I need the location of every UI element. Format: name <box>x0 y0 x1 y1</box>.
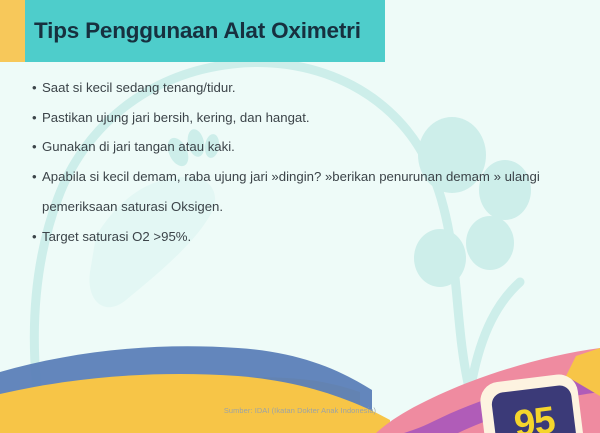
list-item: • Target saturasi O2 >95%. <box>32 228 572 247</box>
bullet-marker-icon: • <box>32 79 42 98</box>
list-item: • Apabila si kecil demam, raba ujung jar… <box>32 168 572 216</box>
list-item: • Pastikan ujung jari bersih, kering, da… <box>32 109 572 128</box>
slide-canvas: Tips Penggunaan Alat Oximetri • Saat si … <box>0 0 600 433</box>
list-item-line-1: Apabila si kecil demam, raba ujung jari … <box>42 169 540 184</box>
bullet-marker-icon: • <box>32 138 42 157</box>
bullet-marker-icon: • <box>32 168 42 187</box>
oximeter-reading-badge: 95 <box>478 372 586 433</box>
list-item-line-2: pemeriksaan saturasi Oksigen. <box>42 198 572 217</box>
list-item-text: Pastikan ujung jari bersih, kering, dan … <box>42 109 572 128</box>
badge-screen: 95 <box>491 384 579 433</box>
bullet-marker-icon: • <box>32 228 42 247</box>
list-item-text: Saat si kecil sedang tenang/tidur. <box>42 79 572 98</box>
list-item-text: Target saturasi O2 >95%. <box>42 228 572 247</box>
page-title: Tips Penggunaan Alat Oximetri <box>34 20 361 43</box>
list-item-text: Gunakan di jari tangan atau kaki. <box>42 138 572 157</box>
title-accent-bar <box>0 0 25 62</box>
tips-list: • Saat si kecil sedang tenang/tidur. • P… <box>32 79 572 257</box>
bullet-marker-icon: • <box>32 109 42 128</box>
badge-value: 95 <box>512 401 557 433</box>
title-banner: Tips Penggunaan Alat Oximetri <box>25 0 385 62</box>
list-item-text: Apabila si kecil demam, raba ujung jari … <box>42 168 572 216</box>
list-item: • Gunakan di jari tangan atau kaki. <box>32 138 572 157</box>
list-item: • Saat si kecil sedang tenang/tidur. <box>32 79 572 98</box>
